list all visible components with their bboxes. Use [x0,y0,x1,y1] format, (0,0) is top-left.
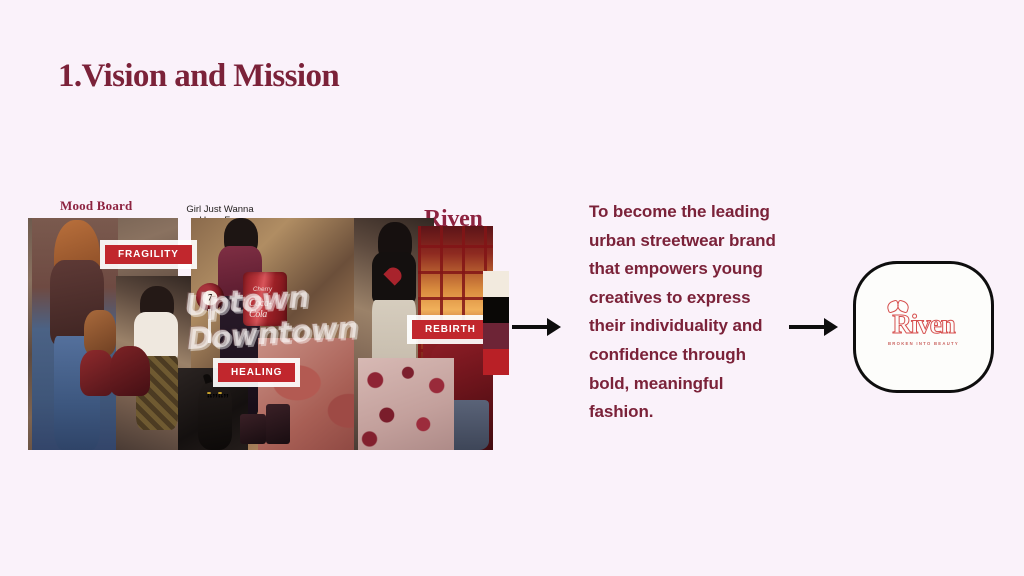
moodboard-label: Mood Board [60,198,132,214]
bow-icon [887,301,909,312]
black-cat-icon [198,378,232,450]
palette-swatch-ivory [483,271,509,297]
platform-shoe-right [266,404,290,444]
arrow-right-icon-1 [512,318,561,336]
cat-eye-left [207,392,211,394]
arrow-shaft [789,325,825,329]
moodboard-caption-line1: Girl Just Wanna [170,204,270,215]
badge-healing: HEALING [218,363,295,382]
arrow-head [824,318,838,336]
coke-can-icon: Cherry Coca-Cola [243,272,287,326]
collage-tile-lips-pattern [358,358,454,450]
palette-swatch-black [483,297,509,323]
brand-logo-card: Riven BROKEN INTO BEAUTY [853,261,994,393]
logo-tagline: BROKEN INTO BEAUTY [888,341,959,346]
seven-ball-number: 7 [203,290,218,305]
collage-shoes-cluster [80,344,160,406]
badge-rebirth: REBIRTH [412,320,489,339]
badge-fragility: FRAGILITY [105,245,192,264]
slide-canvas: 1.Vision and Mission Mood Board Girl Jus… [0,0,1024,576]
ball-stick [208,309,211,343]
color-palette-strip [483,271,509,375]
logo-lockup: Riven BROKEN INTO BEAUTY [874,305,974,349]
seven-ball-icon: 7 [196,283,224,311]
can-brand-label: Coca-Cola [249,298,287,320]
platform-shoe-left [240,414,266,444]
logo-wordmark: Riven [892,309,955,339]
bow-loop-right [895,299,910,313]
can-flavor-label: Cherry [253,287,272,293]
palette-swatch-plum [483,323,509,349]
cat-eye-right [218,392,222,394]
mission-statement: To become the leading urban streetwear b… [589,198,789,427]
arrow-shaft [512,325,548,329]
arrow-right-icon-2 [789,318,838,336]
arrow-head [547,318,561,336]
palette-swatch-red [483,349,509,375]
page-title: 1.Vision and Mission [58,58,339,95]
